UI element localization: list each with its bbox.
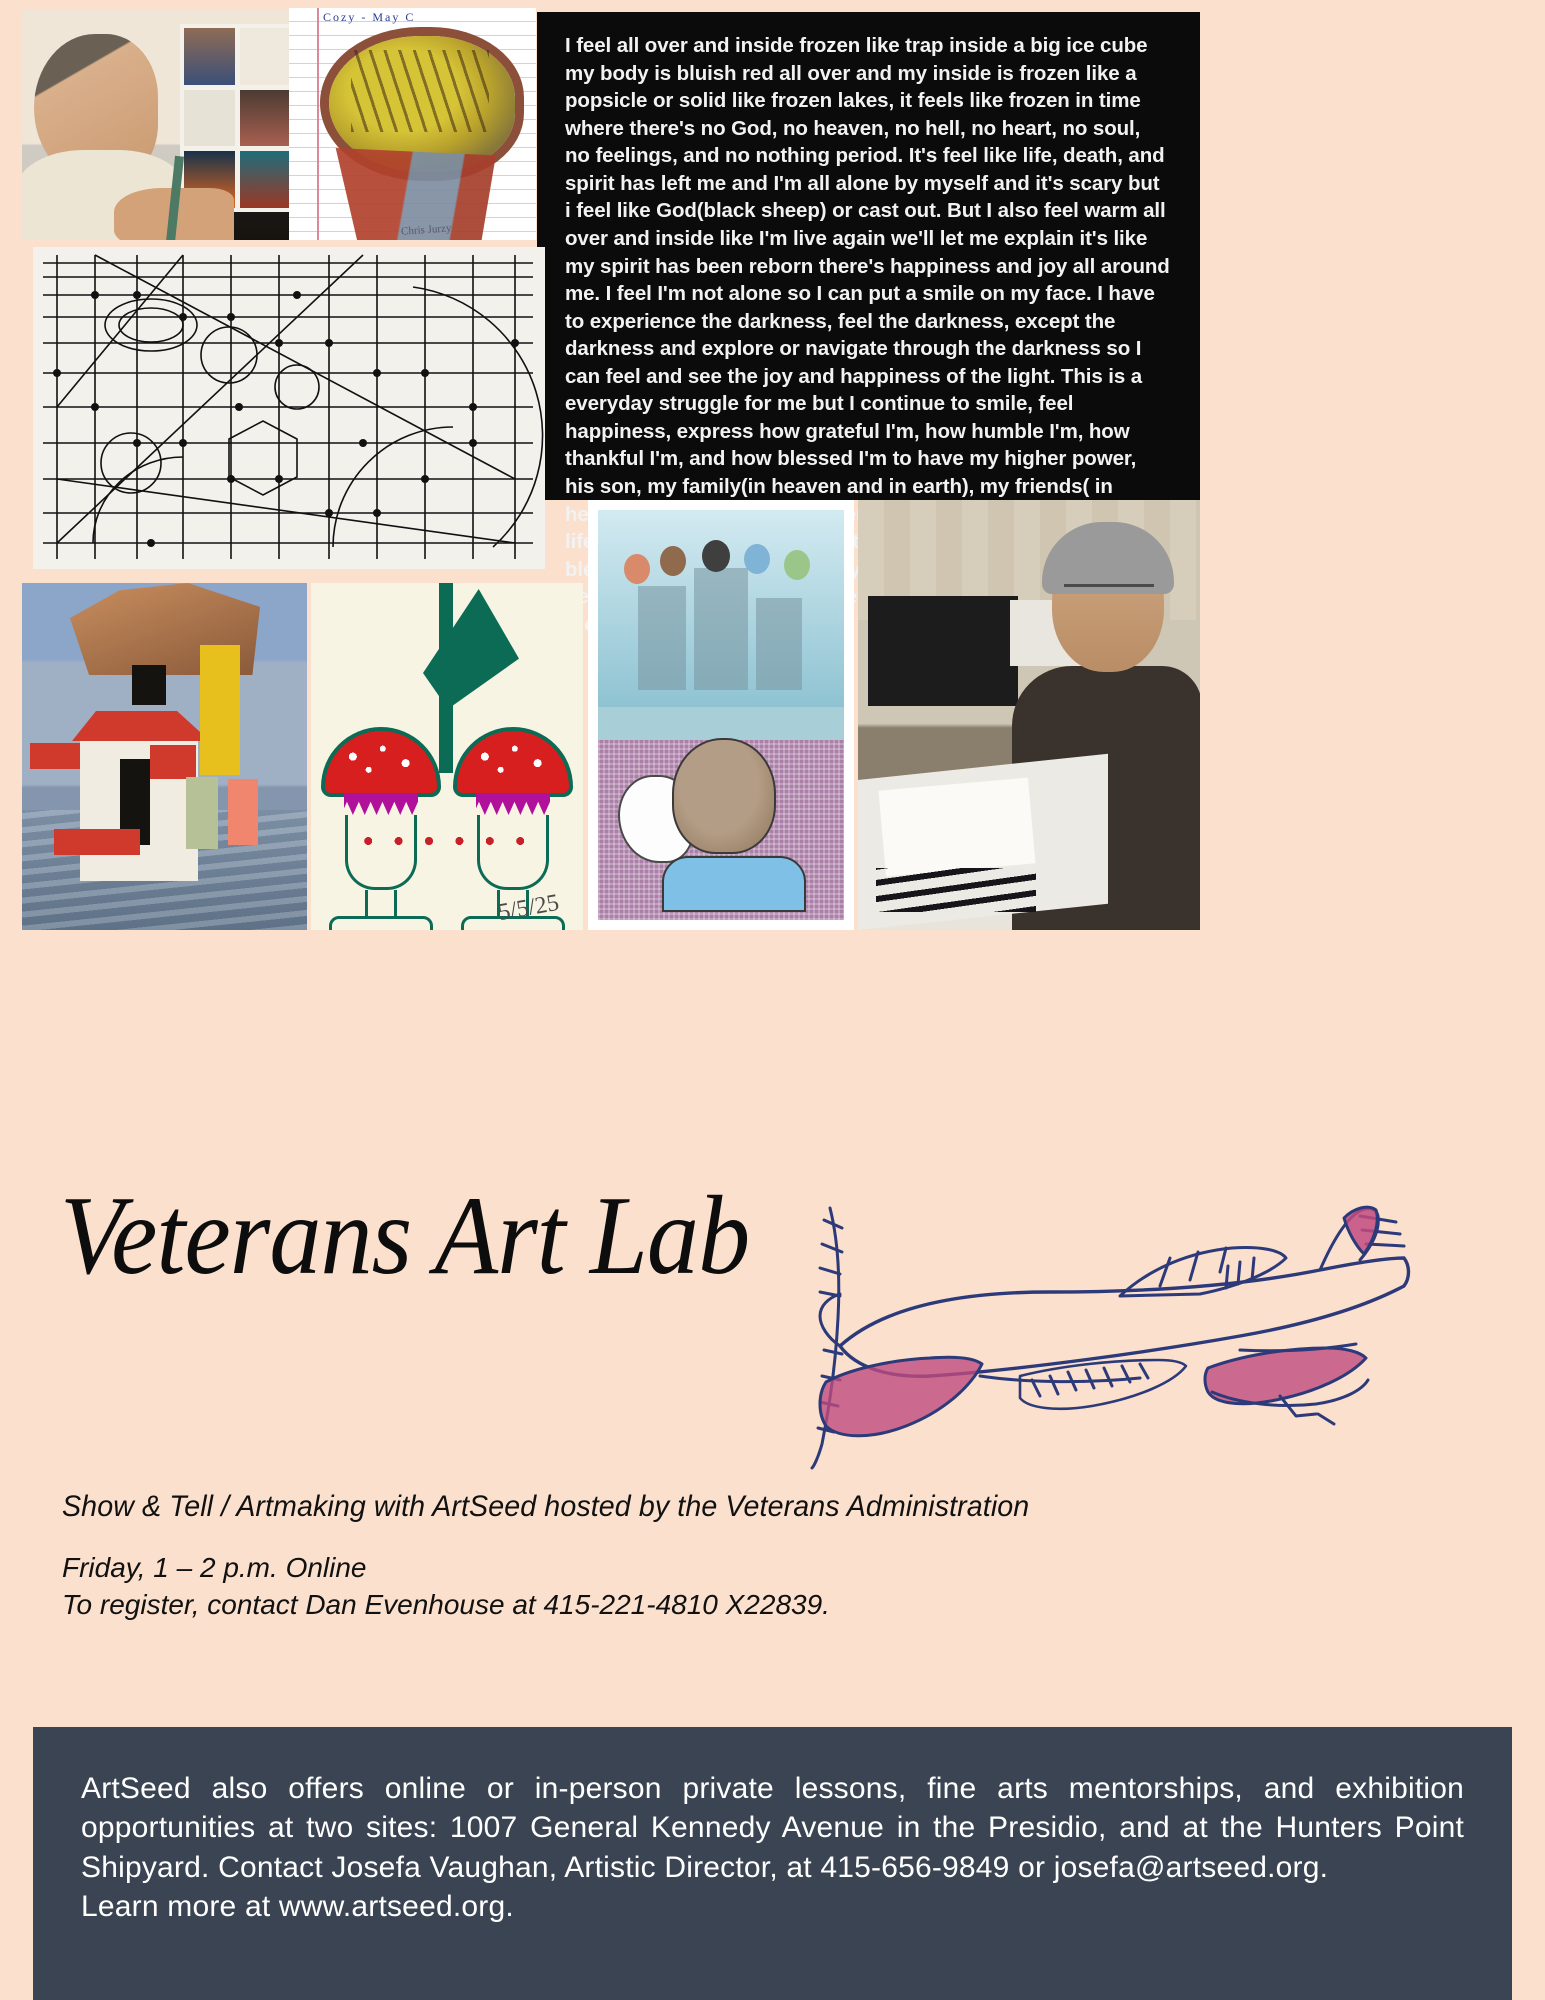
event-headline: Show & Tell / Artmaking with ArtSeed hos… xyxy=(62,1490,1439,1524)
blue-shoulders xyxy=(662,856,806,912)
heart-trail xyxy=(353,833,543,849)
footer-learn-more: Learn more at www.artseed.org. xyxy=(81,1887,1464,1926)
mushroom-figure-left xyxy=(325,731,437,930)
neck-left xyxy=(365,890,397,916)
photo-bird-drawing: Cozy - May C Chris Jurzy xyxy=(289,8,536,240)
page-title: Veterans Art Lab xyxy=(60,1180,749,1292)
poster-root: Cozy - May C Chris Jurzy I feel all over… xyxy=(0,0,1545,2000)
event-when: Friday, 1 – 2 p.m. Online xyxy=(62,1550,1482,1587)
photo-geometric-drawing xyxy=(33,247,545,569)
computer-monitor xyxy=(868,596,1018,706)
face-left xyxy=(345,815,417,890)
green-block xyxy=(186,777,218,849)
building-2 xyxy=(694,568,748,690)
red-roof-lower xyxy=(54,829,140,855)
footer-paragraph: ArtSeed also offers online or in-person … xyxy=(81,1769,1464,1887)
torso-left xyxy=(329,916,433,930)
crowd-head-2 xyxy=(660,546,686,576)
photo-veteran-desk xyxy=(858,500,1200,930)
mushroom-cap-right xyxy=(457,731,569,793)
airplane-drawing xyxy=(720,1200,1420,1470)
red-block xyxy=(150,745,196,779)
watercolor-inner xyxy=(598,510,844,920)
crowd-head-5 xyxy=(784,550,810,580)
magenta-bangs-right xyxy=(476,793,550,815)
photo-watercolor-crowd xyxy=(588,500,854,930)
ruled-paper-margin xyxy=(317,8,319,240)
green-leaf xyxy=(423,589,519,709)
bird-drawing-caption: Cozy - May C xyxy=(323,10,415,25)
marker-pens xyxy=(876,868,1036,912)
event-info: Show & Tell / Artmaking with ArtSeed hos… xyxy=(62,1490,1482,1624)
pink-block xyxy=(228,779,258,845)
crowd-head-1 xyxy=(624,554,650,584)
drawing-paper xyxy=(879,778,1036,877)
crowd-head-3 xyxy=(702,540,730,572)
building-3 xyxy=(756,598,802,690)
magenta-bangs-left xyxy=(344,793,418,815)
black-block-1 xyxy=(132,665,166,705)
building-1 xyxy=(638,586,686,690)
mushroom-cap-left xyxy=(325,731,437,793)
photo-mushroom-figures: 5/5/25 xyxy=(311,583,583,930)
crowd-head-4 xyxy=(744,544,770,574)
geometric-line-art xyxy=(33,247,545,569)
foreground-head xyxy=(672,738,776,854)
event-register: To register, contact Dan Evenhouse at 41… xyxy=(62,1587,1482,1624)
veteran-quote-panel: I feel all over and inside frozen like t… xyxy=(537,12,1200,500)
yellow-block xyxy=(200,645,240,775)
house-roof xyxy=(60,711,210,741)
photo-house-painting xyxy=(22,583,307,930)
org-footer: ArtSeed also offers online or in-person … xyxy=(33,1727,1512,2000)
glasses-icon xyxy=(1064,584,1154,603)
face-right xyxy=(477,815,549,890)
